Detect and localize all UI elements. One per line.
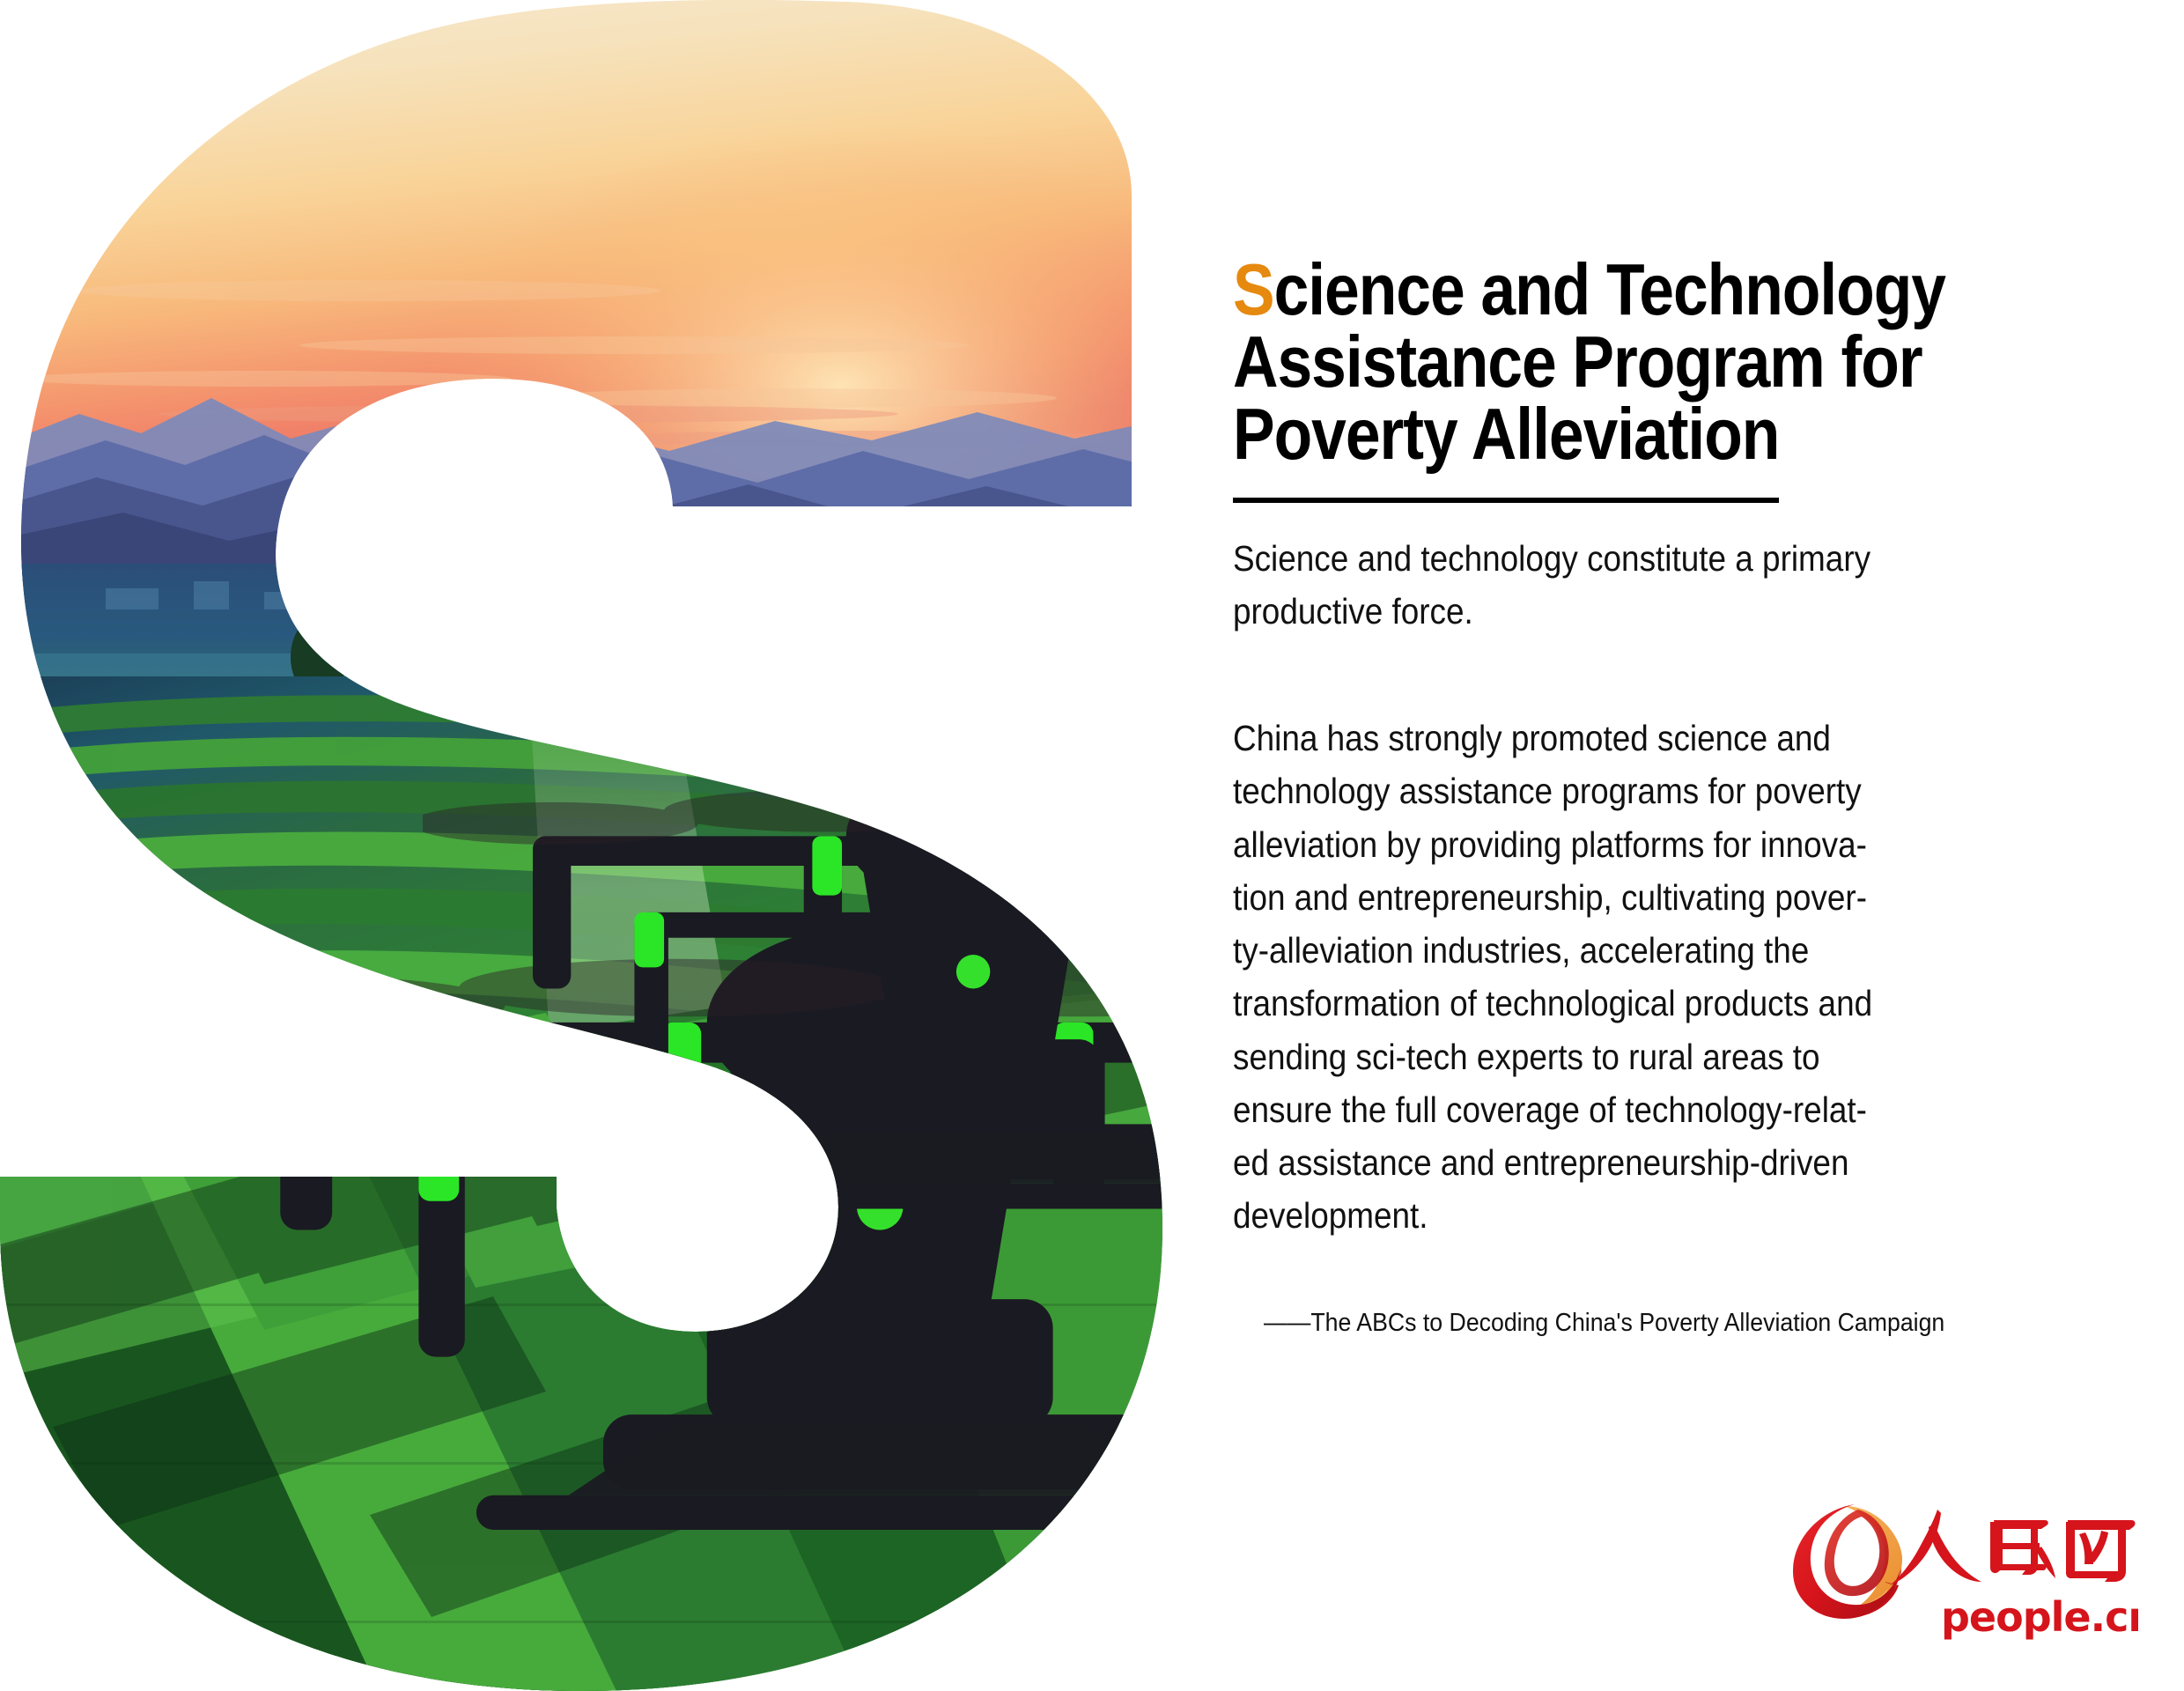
- sun-glow: [273, 26, 1171, 608]
- s-shape-photo-mask: [0, 0, 1171, 1691]
- page-title: Science and Technology Assistance Progra…: [1233, 0, 2013, 470]
- people-cn-logo[interactable]: people.cn: [1786, 1497, 2138, 1651]
- people-cn-mark: [1793, 1504, 1902, 1619]
- people-cn-chinese-name: [1890, 1510, 2135, 1585]
- attribution-line: ——The ABCs to Decoding China's Poverty A…: [1264, 1307, 2184, 1340]
- people-cn-wordmark: people.cn: [1941, 1593, 2138, 1641]
- title-initial-letter: S: [1233, 248, 1274, 330]
- title-rest: cience and Technology Assistance Program…: [1233, 248, 1945, 475]
- text-column: Science and Technology Assistance Progra…: [1233, 0, 2140, 1691]
- title-divider-rule: [1233, 498, 1779, 503]
- body-paragraph: China has strongly promoted science and …: [1233, 712, 2136, 1243]
- ridge-trees: [291, 541, 1143, 719]
- lead-paragraph: Science and technology constitute a prim…: [1233, 532, 2136, 639]
- water-tower: [705, 655, 738, 708]
- infographic-page: Science and Technology Assistance Progra…: [0, 0, 2184, 1691]
- s-letterform-artwork: [0, 0, 1171, 1691]
